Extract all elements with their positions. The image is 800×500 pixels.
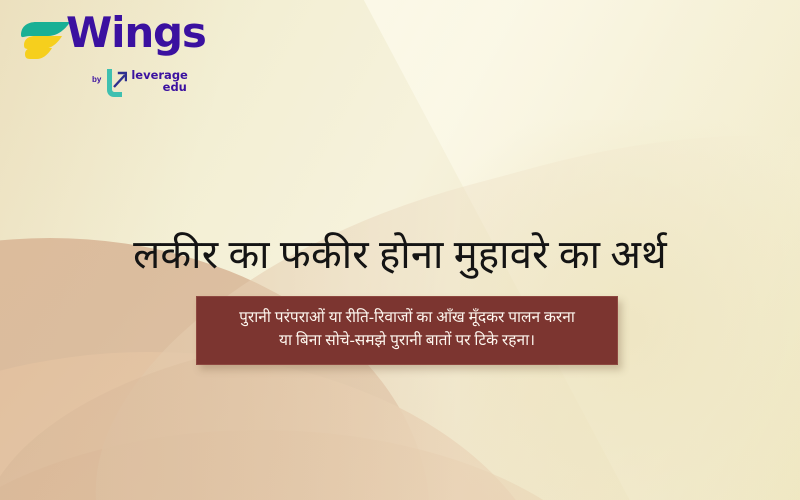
brand-by-label: by [92,75,101,84]
definition-line-1: पुरानी परंपराओं या रीति-रिवाजों का आँख म… [211,306,603,329]
definition-line-2: या बिना सोचे-समझे पुरानी बातों पर टिके र… [211,329,603,352]
brand-logo-primary-row: Wings [14,14,204,70]
brand-sub-lockup: by leverage edu [92,66,188,98]
definition-box: पुरानी परंपराओं या रीति-रिवाजों का आँख म… [196,296,618,365]
page-title: लकीर का फकीर होना मुहावरे का अर्थ [0,231,800,280]
brand-sub-wordmark: leverage edu [131,69,188,93]
idiom-card: Wings by leverage edu लकीर का फकीर होना … [0,0,800,500]
brand-sub-line-2: edu [131,81,188,93]
leverage-edu-icon [105,68,127,98]
brand-logo[interactable]: Wings by leverage edu [14,14,204,106]
brand-wordmark: Wings [66,12,206,54]
